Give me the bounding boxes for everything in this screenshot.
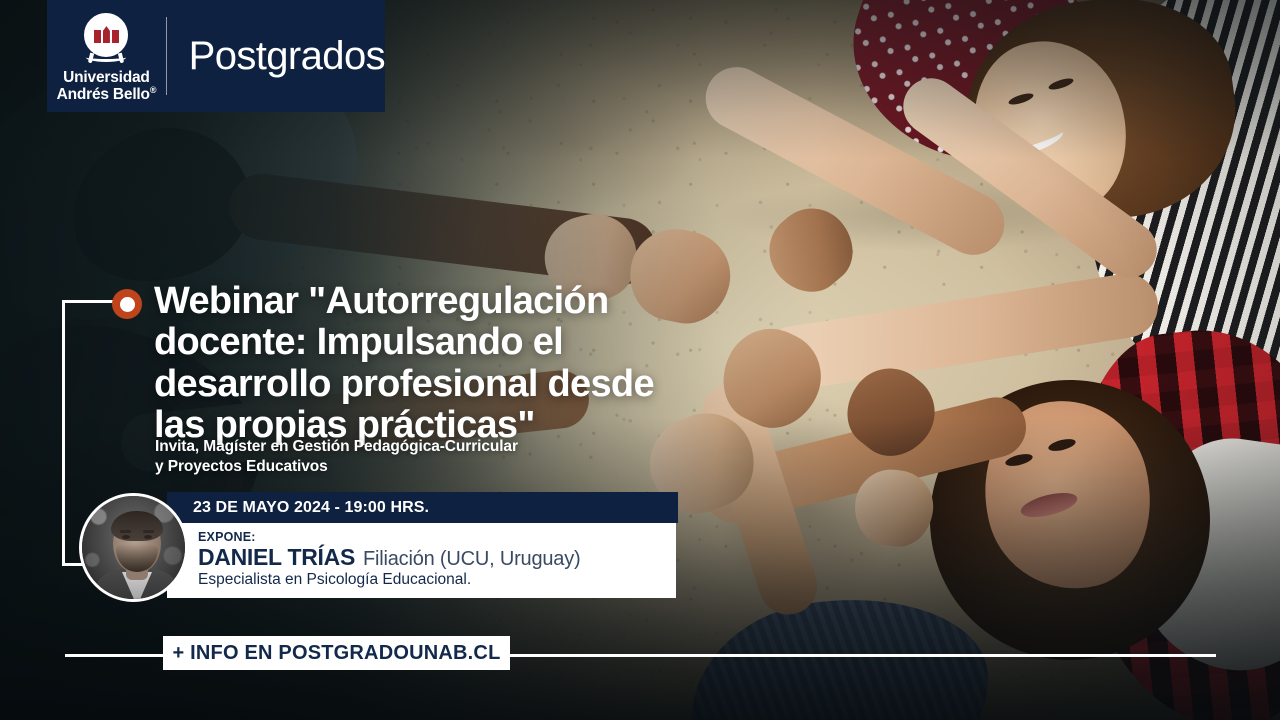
- speaker-label: EXPONE:: [198, 531, 676, 544]
- university-lockup: Universidad Andrés Bello®: [47, 9, 166, 103]
- university-name-line1: Universidad: [57, 70, 157, 86]
- speaker-name: DANIEL TRÍAS: [198, 545, 355, 570]
- event-date-time: 23 DE MAYO 2024 - 19:00 HRS.: [167, 499, 429, 517]
- university-name-line2: Andrés Bello®: [57, 86, 157, 103]
- university-name: Universidad Andrés Bello®: [57, 70, 157, 103]
- speaker-card: EXPONE: DANIEL TRÍAS Filiación (UCU, Uru…: [167, 523, 676, 598]
- subtitle-line-1: Invita, Magíster en Gestión Pedagógica-C…: [155, 437, 675, 457]
- event-date-banner: 23 DE MAYO 2024 - 19:00 HRS.: [167, 492, 678, 523]
- speaker-affiliation: Filiación (UCU, Uruguay): [363, 549, 580, 571]
- webinar-promo-poster: Universidad Andrés Bello® Postgrados Web…: [0, 0, 1280, 720]
- footer-cta-text: + INFO EN POSTGRADOUNAB.CL: [173, 642, 501, 665]
- speaker-role: Especialista en Psicología Educacional.: [198, 571, 676, 590]
- postgrados-wordmark: Postgrados: [167, 36, 385, 76]
- registered-mark: ®: [150, 85, 156, 95]
- university-crest-icon: [80, 13, 132, 65]
- footer-cta-box[interactable]: + INFO EN POSTGRADOUNAB.CL: [163, 636, 510, 670]
- subtitle-line-2: y Proyectos Educativos: [155, 457, 675, 477]
- footer-rule-left: [65, 654, 165, 657]
- speaker-portrait-avatar: [79, 493, 188, 602]
- footer-rule-right: [508, 654, 1216, 657]
- brand-logo-box: Universidad Andrés Bello® Postgrados: [47, 0, 385, 112]
- page-title: Webinar "Autorregulación docente: Impuls…: [154, 281, 714, 447]
- subtitle: Invita, Magíster en Gestión Pedagógica-C…: [155, 437, 675, 477]
- orange-dot-bullet-icon: [112, 289, 142, 319]
